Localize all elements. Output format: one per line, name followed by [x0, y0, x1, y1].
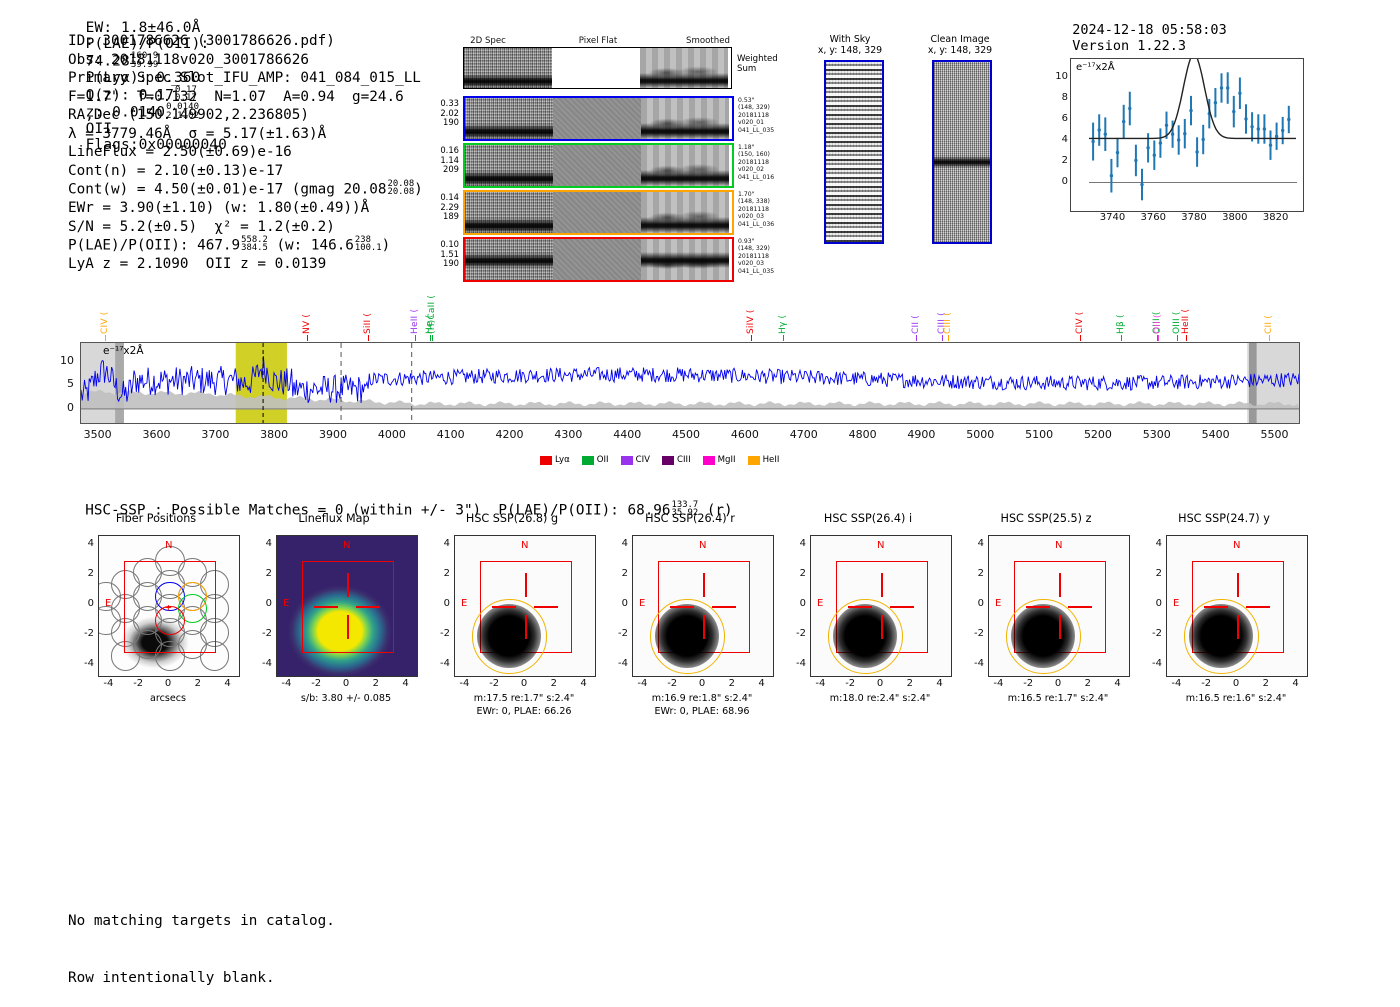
spectrum-x-tick: 5300 [1135, 428, 1179, 441]
spectrum-line-marker [942, 335, 943, 341]
cell-smoothed [641, 192, 729, 233]
cutout-x-tick: 4 [570, 678, 598, 689]
cutout-caption-2: EWr: 0, PLAE: 66.26 [454, 706, 594, 718]
line-fit-y-tick: 6 [1050, 113, 1068, 124]
cutout-x-tick: 2 [362, 678, 390, 689]
spectrum-x-tick: 4200 [488, 428, 532, 441]
legend-label: HeII [763, 455, 780, 465]
montage-fiber-row [463, 237, 734, 282]
line-fit-y-tick: 2 [1050, 155, 1068, 166]
info-plae-lo: 384.5 [241, 244, 268, 252]
spectrum-line-label: SiIV ( [746, 304, 756, 334]
cell-pixelflat [553, 239, 641, 280]
info-plae-pre: P(LAE)/P(OII): 467.9 [68, 238, 240, 254]
cutout-aperture-ellipse [650, 599, 725, 674]
cutout-image[interactable]: NE [632, 535, 774, 677]
spectrum-units: e⁻¹⁷x2Å [103, 345, 144, 357]
crosshair-vertical-lower [1237, 615, 1239, 639]
crosshair-horizontal-right [356, 606, 380, 608]
compass-east-label: E [817, 598, 823, 609]
legend-swatch [621, 456, 633, 465]
crosshair-horizontal-right [712, 606, 736, 608]
spectrum-line-marker [1186, 335, 1187, 341]
cutout-y-tick: 4 [1136, 538, 1162, 549]
spectrum-y-tick: 10 [50, 354, 74, 367]
spectrum-line-marker [1177, 335, 1178, 341]
cutout-x-tick: 2 [540, 678, 568, 689]
line-fit-x-tick: 3760 [1137, 212, 1169, 223]
crosshair-vertical [525, 573, 527, 597]
crosshair-vertical [347, 573, 349, 597]
cutout-x-tick: -2 [1192, 678, 1220, 689]
spectrum-line-label: Hγ ( [778, 304, 788, 334]
cell-pixelflat [553, 192, 641, 233]
cutout-x-tick: 0 [154, 678, 182, 689]
legend-label: OII [597, 455, 609, 465]
legend-item: CIV [621, 455, 650, 465]
compass-east-label: E [461, 598, 467, 609]
legend-swatch [748, 456, 760, 465]
montage-row-meta: 1.70"(148, 338)20181118v020_03041_LL_036 [738, 191, 798, 228]
footer-line-2: Row intentionally blank. [68, 969, 335, 988]
spectrum-x-tick: 3900 [311, 428, 355, 441]
legend-item: OII [582, 455, 609, 465]
main-spectrum-plot: e⁻¹⁷x2Å [80, 342, 1300, 424]
cutout-x-tick: -4 [1162, 678, 1190, 689]
spectrum-line-label: OII ( [1153, 258, 1163, 334]
crosshair-horizontal-left [670, 606, 694, 608]
line-fit-axes: e⁻¹⁷x2Å [1070, 58, 1304, 212]
cutout-x-tick: 0 [1222, 678, 1250, 689]
spectrum-line-marker [1121, 335, 1122, 341]
crosshair-horizontal-left [1026, 606, 1050, 608]
cutout-caption-1: m:17.5 re:1.7" s:2.4" [454, 693, 594, 705]
crosshair-horizontal-left [314, 606, 338, 608]
cutout-caption-1: arcsecs [98, 693, 238, 705]
spectrum-line-marker [1080, 335, 1081, 341]
cutout-image[interactable]: NE [810, 535, 952, 677]
info-plae-mid: (w: 146.6 [276, 238, 353, 254]
spectrum-line-label: (H)CaII ( [427, 258, 437, 334]
cutout-x-tick: -4 [272, 678, 300, 689]
spectrum-x-tick: 3800 [252, 428, 296, 441]
compass-north-label: N [165, 540, 172, 551]
cutout-x-tick: -2 [836, 678, 864, 689]
cutout-aperture-ellipse [828, 599, 903, 674]
cell-smoothed [641, 145, 729, 186]
cell-2dspec [465, 192, 553, 233]
montage-row-weighted-sum [463, 47, 732, 89]
cutout-title: HSC SSP(26.8) g [442, 512, 582, 525]
compass-north-label: N [877, 540, 884, 551]
cutout-x-tick: -4 [94, 678, 122, 689]
legend-swatch [662, 456, 674, 465]
line-fit-y-tick: 8 [1050, 92, 1068, 103]
spectrum-x-tick: 4600 [723, 428, 767, 441]
cutout-y-tick: -2 [1136, 628, 1162, 639]
cutout-caption-1: m:18.0 re:2.4" s:2.4" [810, 693, 950, 705]
two-d-spectra-montage: 2D Spec Pixel Flat Smoothed Weighted Sum… [425, 36, 785, 262]
info-seeing: F=1.7" T=0.132 N=1.07 A=0.94 g=24.6 [68, 88, 423, 107]
info-plae-post: ) [382, 238, 391, 254]
info-lineflux: LineFlux = 2.50(±0.69)e-16 [68, 143, 423, 162]
cutout-y-tick: 2 [958, 568, 984, 579]
cutout-y-tick: -2 [958, 628, 984, 639]
info-plae-w-lo: 100.1 [355, 244, 382, 252]
cutout-caption-1: m:16.5 re:1.7" s:2.4" [988, 693, 1128, 705]
compass-north-label: N [1055, 540, 1062, 551]
spectrum-svg [81, 343, 1299, 423]
footer-note: No matching targets in catalog. Row inte… [68, 874, 335, 1007]
cutout-y-tick: -2 [424, 628, 450, 639]
cutout-aperture-ellipse [1006, 599, 1081, 674]
spectrum-line-marker [415, 335, 416, 341]
crosshair-vertical [881, 573, 883, 597]
cutout-y-tick: -4 [424, 658, 450, 669]
cutout-y-tick: 0 [1136, 598, 1162, 609]
spectrum-x-tick: 3600 [134, 428, 178, 441]
cutout-title: HSC SSP(26.4) r [620, 512, 760, 525]
compass-north-label: N [343, 540, 350, 551]
montage-fiber-row [463, 96, 734, 141]
cutout-y-tick: -4 [958, 658, 984, 669]
cutout-x-tick: -2 [1014, 678, 1042, 689]
cell-smoothed-sum [640, 48, 728, 88]
spectrum-line-label: HeII ( [410, 304, 420, 334]
spectrum-x-tick: 4300 [546, 428, 590, 441]
spectrum-x-tick: 4100 [429, 428, 473, 441]
spectrum-x-tick: 5200 [1076, 428, 1120, 441]
legend-swatch [582, 456, 594, 465]
header-timestamp-block: 2024-12-18 05:58:03 Version 1.22.3 [1056, 6, 1243, 54]
spectrum-line-marker [916, 335, 917, 341]
cutout-y-tick: 0 [246, 598, 272, 609]
cell-2dspec-sum [464, 48, 552, 88]
legend-swatch [703, 456, 715, 465]
cutout-x-tick: -2 [658, 678, 686, 689]
compass-east-label: E [639, 598, 645, 609]
spectrum-x-tick: 4900 [899, 428, 943, 441]
legend-label: MgII [718, 455, 736, 465]
cutout-title: HSC SSP(25.5) z [976, 512, 1116, 525]
cutout-y-tick: 0 [424, 598, 450, 609]
compass-east-label: E [1173, 598, 1179, 609]
info-cont-w: Cont(w) = 4.50(±0.01)e-17 (gmag 20.0820.… [68, 180, 423, 199]
cutout-y-tick: 0 [602, 598, 628, 609]
line-fit-x-tick: 3780 [1178, 212, 1210, 223]
cutout-image[interactable]: NE [276, 535, 418, 677]
info-cont-n: Cont(n) = 2.10(±0.13)e-17 [68, 162, 423, 181]
cutout-title: HSC SSP(26.4) i [798, 512, 938, 525]
spectrum-x-tick: 4400 [605, 428, 649, 441]
montage-col-header-pixelflat: Pixel Flat [543, 36, 653, 46]
cell-pixelflat-sum [552, 48, 640, 88]
cutout-y-tick: 2 [602, 568, 628, 579]
cutout-aperture-ellipse [1184, 599, 1259, 674]
line-fit-y-tick: 4 [1050, 134, 1068, 145]
cutout-caption-1: m:16.9 re:1.8" s:2.4" [632, 693, 772, 705]
line-fit-x-tick: 3800 [1219, 212, 1251, 223]
cutout-x-tick: 0 [866, 678, 894, 689]
spectrum-line-label: SiII ( [363, 304, 373, 334]
crosshair-horizontal-left [848, 606, 872, 608]
cutout-caption-2: EWr: 0, PLAE: 68.96 [632, 706, 772, 718]
cutout-x-tick: 2 [184, 678, 212, 689]
legend-item: MgII [703, 455, 736, 465]
cutout-caption-1: s/b: 3.80 +/- 0.085 [276, 693, 416, 705]
crosshair-vertical-lower [881, 615, 883, 639]
cutout-image[interactable]: NE [1166, 535, 1308, 677]
montage-fiber-row [463, 190, 734, 235]
cutout-x-tick: 2 [896, 678, 924, 689]
crosshair-vertical [1237, 573, 1239, 597]
spectrum-x-tick: 5000 [958, 428, 1002, 441]
spectrum-x-tick: 5400 [1194, 428, 1238, 441]
info-primary-spec: Primary Spec_Slot_IFU_AMP: 041_084_015_L… [68, 69, 423, 88]
crosshair-vertical [703, 573, 705, 597]
info-radec: RA,Dec (150.149902,2.236805) [68, 106, 423, 125]
legend-item: HeII [748, 455, 780, 465]
footer-line-1: No matching targets in catalog. [68, 912, 335, 931]
spectrum-line-label: CII ( [911, 304, 921, 334]
compass-east-label: E [105, 598, 111, 609]
cutout-image[interactable]: NE [454, 535, 596, 677]
cell-pixelflat [553, 145, 641, 186]
montage-row-meta: 1.18"(150, 160)20181118v020_02041_LL_016 [738, 144, 798, 181]
spectrum-line-marker [783, 335, 784, 341]
cutout-x-tick: 2 [718, 678, 746, 689]
info-lambda: λ = 3779.46Å σ = 5.17(±1.63)Å [68, 125, 423, 144]
spectrum-line-marker [307, 335, 308, 341]
crosshair-vertical-lower [525, 615, 527, 639]
cutout-x-tick: 4 [1282, 678, 1310, 689]
crosshair-vertical [1059, 573, 1061, 597]
crosshair-vertical-lower [347, 615, 349, 639]
compass-north-label: N [521, 540, 528, 551]
spectrum-x-tick: 4700 [782, 428, 826, 441]
spectrum-line-label: NV ( [302, 304, 312, 334]
info-plae: P(LAE)/P(OII): 467.9558.2384.5 (w: 146.6… [68, 236, 423, 255]
cutout-y-tick: -2 [780, 628, 806, 639]
cutout-x-tick: -2 [124, 678, 152, 689]
info-id: ID: 3001786626 (3001786626.pdf) [68, 32, 423, 51]
crosshair-horizontal-right [1246, 606, 1270, 608]
cell-smoothed [641, 239, 729, 280]
legend-label: CIV [636, 455, 650, 465]
info-cont-w-lo: 20.08 [387, 188, 414, 196]
cutout-y-tick: -4 [780, 658, 806, 669]
cutout-x-tick: -2 [480, 678, 508, 689]
cutout-y-tick: 0 [958, 598, 984, 609]
spectrum-x-tick: 4500 [664, 428, 708, 441]
cutout-y-tick: -2 [68, 628, 94, 639]
cell-smoothed [641, 98, 729, 139]
cutout-x-tick: 0 [688, 678, 716, 689]
cutout-x-tick: -2 [302, 678, 330, 689]
crosshair-vertical-lower [703, 615, 705, 639]
cutout-y-tick: 2 [246, 568, 272, 579]
cutout-x-tick: 0 [510, 678, 538, 689]
thumbnail-clean-image [932, 60, 992, 244]
spectrum-line-marker [948, 335, 949, 341]
spectrum-line-label: CII ( [1264, 304, 1274, 334]
info-redshift: LyA z = 2.1090 OII z = 0.0139 [68, 255, 423, 274]
cutout-x-tick: 4 [214, 678, 242, 689]
spectrum-line-marker [105, 335, 106, 341]
montage-row-stats: 0.332.02190 [421, 99, 459, 128]
spectrum-x-tick: 3700 [193, 428, 237, 441]
cutout-caption-1: m:16.5 re:1.6" s:2.4" [1166, 693, 1306, 705]
thumbnail-with-sky [824, 60, 884, 244]
cutout-title: HSC SSP(24.7) y [1154, 512, 1294, 525]
cutout-x-tick: 4 [748, 678, 776, 689]
crosshair-horizontal-right [1068, 606, 1092, 608]
crosshair-horizontal-right [534, 606, 558, 608]
cutout-x-tick: -4 [450, 678, 478, 689]
cutout-y-tick: 4 [246, 538, 272, 549]
cutout-y-tick: -4 [246, 658, 272, 669]
info-obs: Obs: 20181118v020_3001786626 [68, 51, 423, 70]
legend-item: Lyα [540, 455, 570, 465]
line-fit-svg [1071, 59, 1303, 211]
cutout-y-tick: 4 [602, 538, 628, 549]
montage-row-stats: 0.142.29189 [421, 193, 459, 222]
crosshair-horizontal-left [492, 606, 516, 608]
cell-2dspec [465, 98, 553, 139]
crosshair-horizontal-left [1204, 606, 1228, 608]
line-fit-x-tick: 3740 [1096, 212, 1128, 223]
crosshair-horizontal-right [890, 606, 914, 608]
spectrum-line-marker [432, 335, 433, 341]
cutout-x-tick: 0 [332, 678, 360, 689]
cutout-x-tick: 4 [392, 678, 420, 689]
cutout-x-tick: 0 [1044, 678, 1072, 689]
spectrum-line-label: CIV ( [1075, 304, 1085, 334]
montage-fiber-row [463, 143, 734, 188]
cutout-x-tick: -4 [628, 678, 656, 689]
montage-row-meta: 0.93"(148, 329)20181118v020_03041_LL_035 [738, 238, 798, 275]
cutout-x-tick: -4 [806, 678, 834, 689]
cutout-y-tick: 4 [424, 538, 450, 549]
legend-label: Lyα [555, 455, 570, 465]
cutout-y-tick: -2 [602, 628, 628, 639]
cutout-y-tick: 4 [958, 538, 984, 549]
line-fit-plot: e⁻¹⁷x2Å 0246810 37403760378038003820 [1036, 58, 1304, 233]
line-fit-y-tick: 0 [1050, 176, 1068, 187]
spectrum-line-marker [751, 335, 752, 341]
legend-item: CIII [662, 455, 691, 465]
legend-swatch [540, 456, 552, 465]
spectrum-line-label: CIV ( [100, 304, 110, 334]
cutout-y-tick: 2 [68, 568, 94, 579]
cutout-title: Fiber Positions [86, 512, 226, 525]
spectrum-line-marker [1158, 335, 1159, 341]
spectrum-line-marker [1269, 335, 1270, 341]
spectrum-line-label: Hβ ( [1116, 304, 1126, 334]
compass-north-label: N [1233, 540, 1240, 551]
cutout-y-tick: 4 [780, 538, 806, 549]
cutout-title: Lineflux Map [264, 512, 404, 525]
cutout-y-tick: -4 [602, 658, 628, 669]
cutout-y-tick: 2 [424, 568, 450, 579]
line-fit-y-tick: 10 [1050, 71, 1068, 82]
cell-pixelflat [553, 98, 641, 139]
cell-2dspec [465, 145, 553, 186]
spectrum-x-tick: 5100 [1017, 428, 1061, 441]
spectrum-line-label: CIII ( [943, 258, 953, 334]
crosshair-vertical-lower [1059, 615, 1061, 639]
spectrum-legend: LyαOIICIVCIIIMgIIHeII [540, 455, 779, 465]
montage-weighted-sum-label: Weighted Sum [737, 54, 778, 74]
thumb-title-with-sky: With Sky x, y: 148, 329 [800, 34, 900, 56]
cutout-y-tick: -2 [246, 628, 272, 639]
header-date: 2024-12-18 05:58:03 [1072, 22, 1226, 38]
montage-row-stats: 0.161.14209 [421, 146, 459, 175]
center-cross-icon: + [165, 601, 172, 614]
cutout-y-tick: 0 [68, 598, 94, 609]
cutout-y-tick: 0 [780, 598, 806, 609]
spectrum-y-tick: 5 [50, 377, 74, 390]
spectrum-y-tick: 0 [50, 401, 74, 414]
montage-col-header-smoothed: Smoothed [653, 36, 763, 46]
cutout-y-tick: 2 [1136, 568, 1162, 579]
spectrum-x-tick: 4000 [370, 428, 414, 441]
source-info-block: ID: 3001786626 (3001786626.pdf) Obs: 201… [68, 32, 423, 274]
montage-row-meta: 0.53"(148, 329)20181118v020_01041_LL_035 [738, 97, 798, 134]
cell-2dspec [465, 239, 553, 280]
cutout-x-tick: 4 [926, 678, 954, 689]
header-version: Version 1.22.3 [1072, 38, 1186, 54]
cutout-aperture-ellipse [472, 599, 547, 674]
spectrum-line-marker [368, 335, 369, 341]
cutout-y-tick: -4 [1136, 658, 1162, 669]
thumb-title-clean-image: Clean Image x, y: 148, 329 [905, 34, 1015, 56]
cutout-x-tick: -4 [984, 678, 1012, 689]
info-sn: S/N = 5.2(±0.5) χ² = 1.2(±0.2) [68, 218, 423, 237]
cutout-image[interactable]: +NE [98, 535, 240, 677]
cutout-x-tick: 2 [1252, 678, 1280, 689]
spectrum-x-tick: 4800 [841, 428, 885, 441]
compass-north-label: N [699, 540, 706, 551]
cutout-image[interactable]: NE [988, 535, 1130, 677]
cutout-y-tick: -4 [68, 658, 94, 669]
cutout-x-tick: 2 [1074, 678, 1102, 689]
info-cont-w-text: Cont(w) = 4.50(±0.01)e-17 (gmag 20.08 [68, 182, 386, 198]
cutout-y-tick: 2 [780, 568, 806, 579]
cutout-y-tick: 4 [68, 538, 94, 549]
spectrum-x-tick: 3500 [76, 428, 120, 441]
compass-east-label: E [995, 598, 1001, 609]
spectrum-line-label: HeII ( [1181, 304, 1191, 334]
line-fit-x-tick: 3820 [1260, 212, 1292, 223]
cutout-x-tick: 4 [1104, 678, 1132, 689]
legend-label: CIII [677, 455, 691, 465]
info-ewr: EWr = 3.90(±1.10) (w: 1.80(±0.49))Å [68, 199, 423, 218]
spectrum-x-tick: 5500 [1252, 428, 1296, 441]
montage-col-header-2dspec: 2D Spec [433, 36, 543, 46]
compass-east-label: E [283, 598, 289, 609]
